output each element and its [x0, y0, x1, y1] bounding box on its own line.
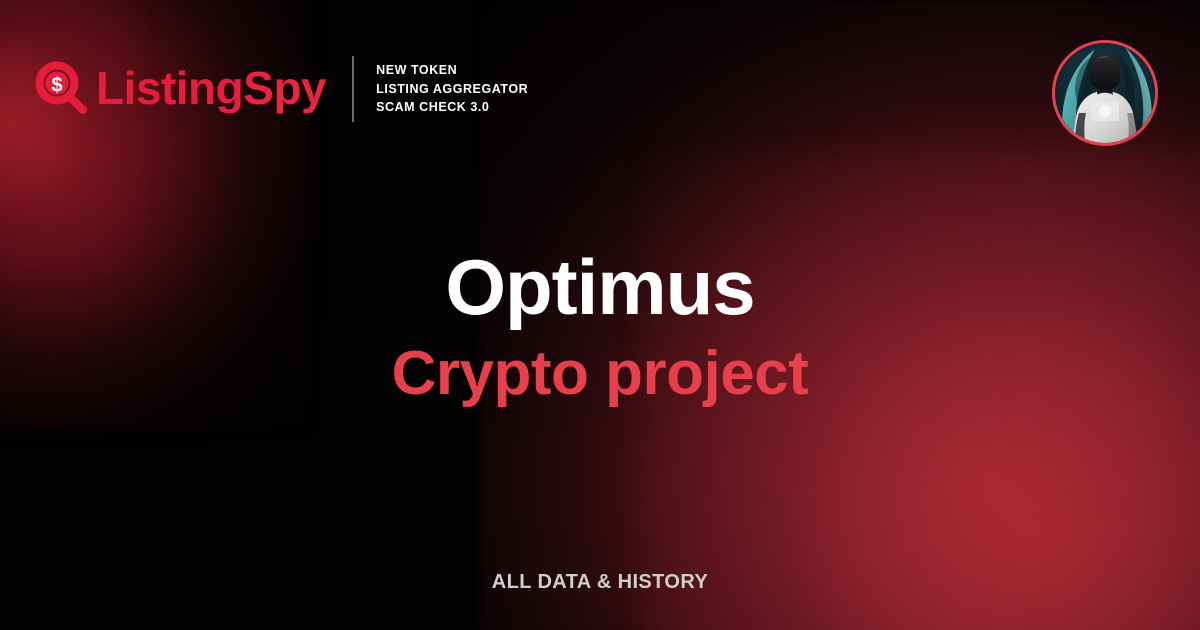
- header-divider: [352, 56, 354, 122]
- social-share-card: $ ListingSpy NEW TOKEN LISTING AGGREGATO…: [0, 0, 1200, 630]
- page-title: Optimus: [0, 248, 1200, 326]
- magnifier-dollar-icon: $: [34, 61, 90, 117]
- project-avatar[interactable]: [1052, 40, 1158, 146]
- brand-tagline: NEW TOKEN LISTING AGGREGATOR SCAM CHECK …: [376, 62, 528, 117]
- tagline-line-2: LISTING AGGREGATOR: [376, 81, 528, 98]
- footer-caption: ALL DATA & HISTORY: [0, 572, 1200, 592]
- glow-right-edge: [920, 120, 1200, 540]
- brand-wordmark: ListingSpy: [96, 65, 326, 111]
- brand-wordmark-listing: Listing: [96, 62, 243, 114]
- tagline-line-3: SCAM CHECK 3.0: [376, 99, 528, 116]
- brand-wordmark-spy: Spy: [243, 62, 326, 114]
- brand-header[interactable]: $ ListingSpy NEW TOKEN LISTING AGGREGATO…: [34, 56, 528, 122]
- tagline-line-1: NEW TOKEN: [376, 62, 528, 79]
- svg-text:$: $: [51, 75, 62, 97]
- page-subtitle: Crypto project: [0, 343, 1200, 405]
- glow-top-left-core: [0, 0, 140, 270]
- humanoid-robot-avatar: [1055, 43, 1155, 143]
